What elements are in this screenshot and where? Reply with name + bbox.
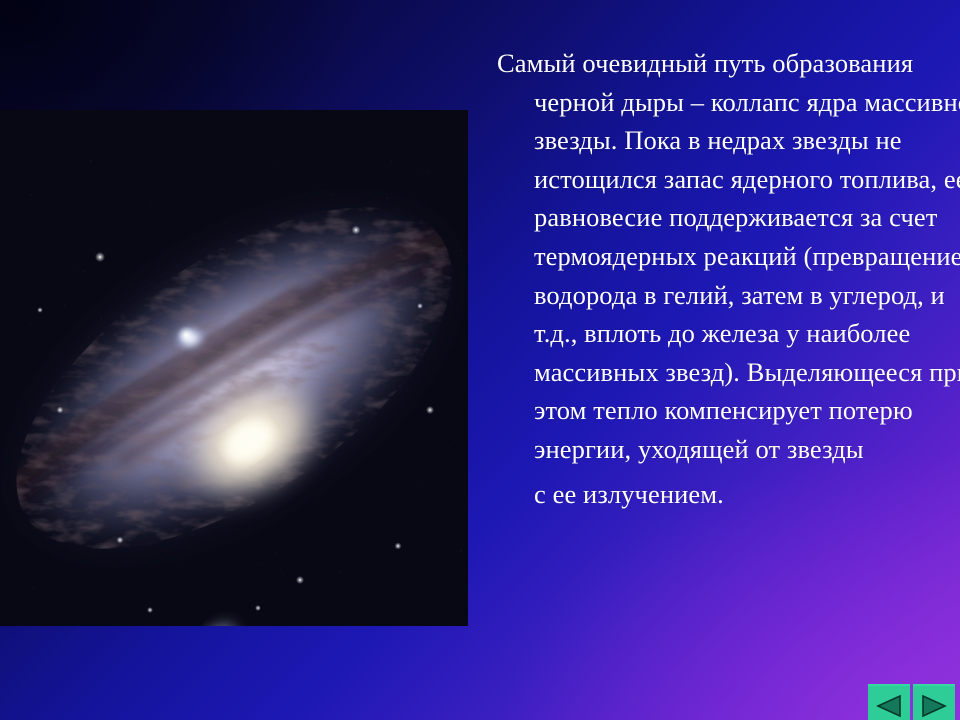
slide-navigation <box>868 684 956 720</box>
andromeda-galaxy-photo <box>0 110 468 626</box>
body-paragraph-tail: с ее излучением. <box>534 475 960 514</box>
body-paragraph-main: Самый очевидный путь образования черной … <box>497 48 960 464</box>
presentation-slide: Самый очевидный путь образования черной … <box>0 0 960 720</box>
slide-body-text: Самый очевидный путь образования черной … <box>497 44 960 513</box>
previous-slide-button[interactable] <box>868 684 910 720</box>
next-slide-button[interactable] <box>913 684 955 720</box>
triangle-left-icon <box>876 694 902 718</box>
triangle-right-icon <box>921 694 947 718</box>
